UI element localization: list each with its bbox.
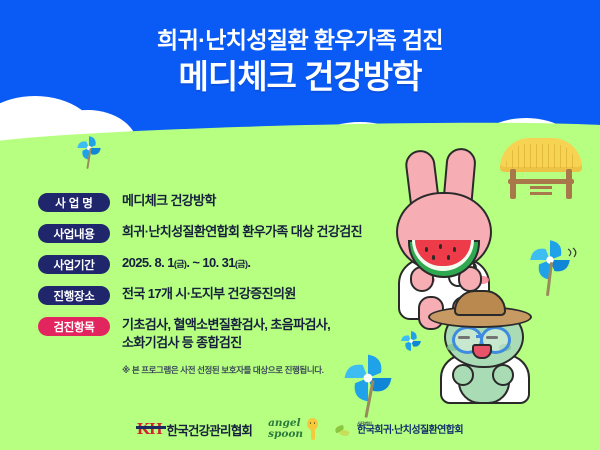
exam-items-line-1: 기초검사, 혈액소변질환검사, 초음파검사, xyxy=(122,316,330,334)
period-end-weekday: (금) xyxy=(235,259,247,269)
assoc-name: 한국희귀·난치성질환연합회 xyxy=(357,426,463,436)
pinwheel-icon xyxy=(76,135,102,169)
spoon-character-icon xyxy=(306,418,319,440)
period-start: 2025. 8. 1 xyxy=(122,255,174,270)
motion-lines-icon xyxy=(566,246,582,262)
program-footnote: ※ 본 프로그램은 사전 선정된 보호자를 대상으로 진행됩니다. xyxy=(122,364,388,376)
info-row-program-name: 사업명 메디체크 건강방학 xyxy=(38,192,388,212)
info-value-exam-items: 기초검사, 혈액소변질환검사, 초음파검사, 소화기검사 등 종합검진 xyxy=(110,316,330,353)
green-character-arm xyxy=(492,364,514,386)
assoc-text-block: 사단법인 한국희귀·난치성질환연합회 xyxy=(357,422,463,436)
hat-crown xyxy=(454,290,506,316)
info-value-program-period: 2025. 8. 1(금). ~ 10. 31(금). xyxy=(122,254,250,272)
watermelon-slice-icon xyxy=(408,240,480,278)
info-value-program-name: 메디체크 건강방학 xyxy=(122,192,216,210)
info-label-badge: 사업명 xyxy=(38,193,110,212)
hut-rail xyxy=(508,179,574,184)
footer-logo-bar: KH 한국건강관리협회 angel spoon 사단법인 xyxy=(0,418,600,440)
hut-step xyxy=(530,192,552,195)
hut-step xyxy=(530,186,552,189)
angel-spoon-script: angel spoon xyxy=(268,418,303,439)
rare-disease-association-logo: 사단법인 한국희귀·난치성질환연합회 xyxy=(335,422,463,437)
info-label-badge-exam: 검진항목 xyxy=(38,317,110,336)
green-character-arm xyxy=(452,364,474,386)
info-value-location: 전국 17개 시·도지부 건강증진의원 xyxy=(122,285,296,303)
info-label-badge: 사업기간 xyxy=(38,255,110,274)
period-separator: . ~ 10. 31 xyxy=(186,255,235,270)
poster-subtitle: 희귀·난치성질환 환우가족 검진 xyxy=(0,26,600,55)
period-suffix: . xyxy=(247,255,250,270)
program-details-list: 사업명 메디체크 건강방학 사업내용 희귀·난치성질환연합회 환우가족 대상 건… xyxy=(38,192,388,376)
info-label-badge: 진행장소 xyxy=(38,286,110,305)
info-label-badge: 사업내용 xyxy=(38,224,110,243)
pinwheel-icon xyxy=(400,330,422,360)
leaf-icon xyxy=(335,422,350,437)
green-character-illustration xyxy=(430,288,548,406)
hut-roof xyxy=(500,138,582,172)
glasses-bridge xyxy=(476,335,483,338)
exam-items-line-2: 소화기검사 등 종합검진 xyxy=(122,334,330,352)
kh-association-logo: KH 한국건강관리협회 xyxy=(137,419,252,439)
kh-association-name: 한국건강관리협회 xyxy=(167,420,253,439)
info-row-program-content: 사업내용 희귀·난치성질환연합회 환우가족 대상 건강검진 xyxy=(38,223,388,243)
kh-mark: KH xyxy=(137,419,161,439)
info-value-program-content: 희귀·난치성질환연합회 환우가족 대상 건강검진 xyxy=(122,223,362,241)
info-row-location: 진행장소 전국 17개 시·도지부 건강증진의원 xyxy=(38,285,388,305)
straw-hat-icon xyxy=(428,290,532,324)
pinwheel-blades xyxy=(400,330,422,352)
angel-spoon-logo: angel spoon xyxy=(268,418,319,440)
poster-header: 희귀·난치성질환 환우가족 검진 메디체크 건강방학 xyxy=(0,26,600,97)
spoon-word: spoon xyxy=(268,429,303,440)
spoon-handle xyxy=(311,428,315,440)
period-start-weekday: (금) xyxy=(174,259,186,269)
hut-post xyxy=(566,169,572,199)
poster-title: 메디체크 건강방학 xyxy=(0,58,600,97)
info-row-program-period: 사업기간 2025. 8. 1(금). ~ 10. 31(금). xyxy=(38,254,388,274)
poster-canvas: 희귀·난치성질환 환우가족 검진 메디체크 건강방학 xyxy=(0,0,600,450)
info-row-exam-items: 검진항목 기초검사, 혈액소변질환검사, 초음파검사, 소화기검사 등 종합검진 xyxy=(38,316,388,353)
